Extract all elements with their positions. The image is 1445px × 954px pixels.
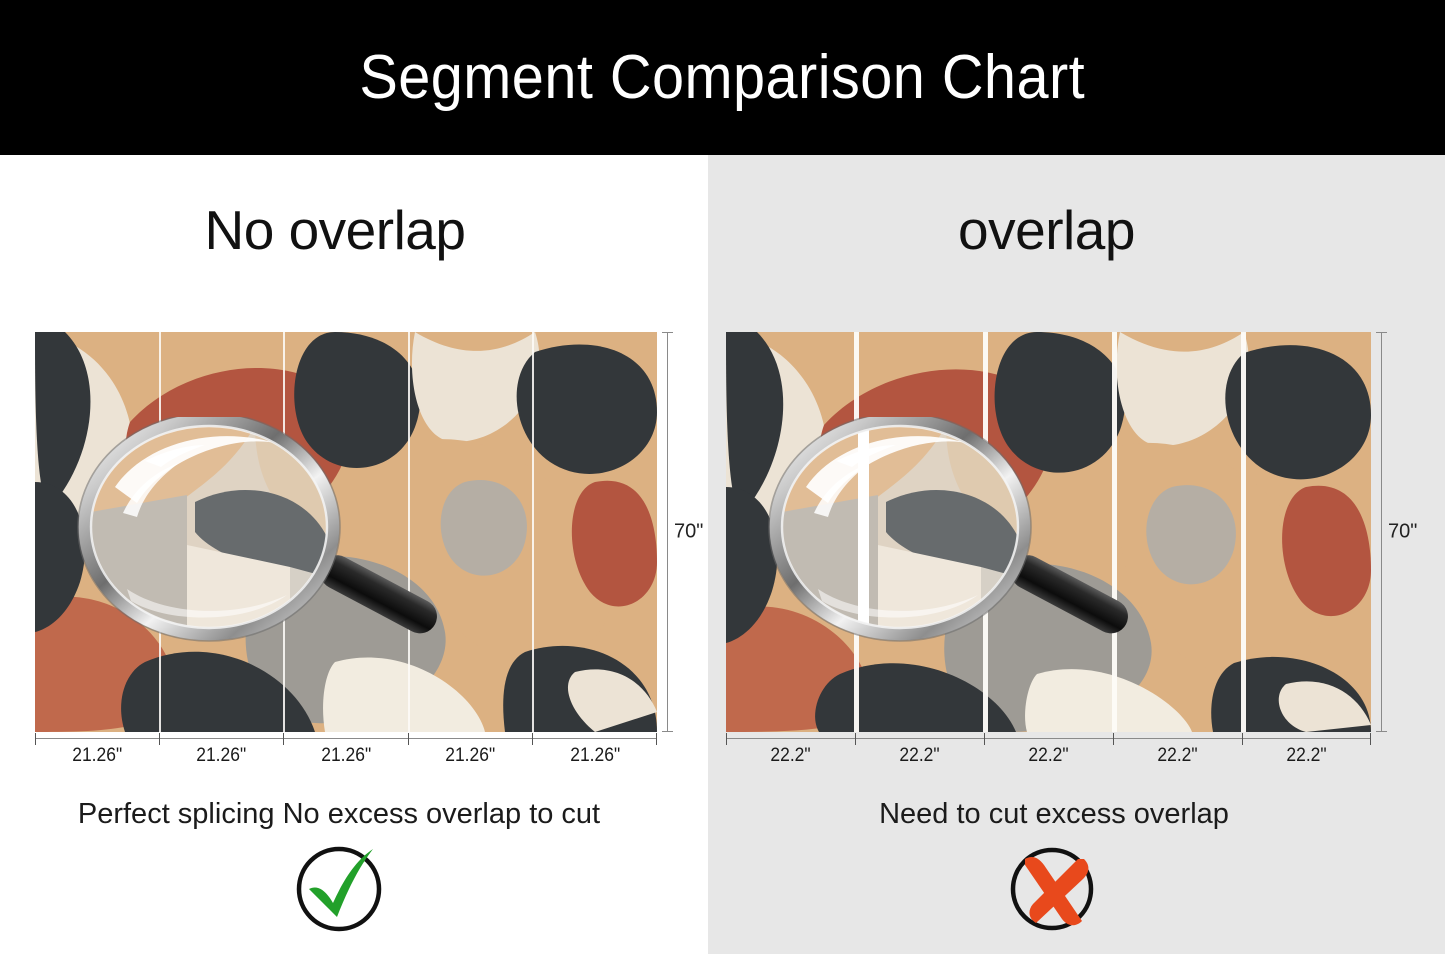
mural-overlap <box>726 332 1371 732</box>
page-title: Segment Comparison Chart <box>360 47 1086 109</box>
dimension-tick <box>855 733 856 745</box>
segment-label: 21.26" <box>413 745 527 767</box>
segment-labels-right: 22.2" 22.2" 22.2" 22.2" 22.2" <box>726 745 1371 767</box>
check-circle-icon <box>293 841 385 933</box>
segment-label: 22.2" <box>1118 745 1237 767</box>
dimension-tick <box>532 733 533 745</box>
segment-label: 22.2" <box>1247 745 1366 767</box>
dimension-tick <box>35 733 36 745</box>
dimension-line <box>726 738 1371 739</box>
height-label-right: 70" <box>1388 521 1417 544</box>
panel-no-overlap: No overlap <box>0 155 708 954</box>
dimension-tick <box>408 733 409 745</box>
dimension-cap-top <box>1376 332 1387 333</box>
dimension-tick <box>984 733 985 745</box>
segment-dimension-right: 22.2" 22.2" 22.2" 22.2" 22.2" <box>726 738 1371 784</box>
segment-label: 22.2" <box>731 745 850 767</box>
dimension-cap-bottom <box>1376 731 1387 732</box>
height-dimension-right: 70" <box>1373 332 1413 732</box>
mural-no-overlap <box>35 332 657 732</box>
segment-dimension-left: 21.26" 21.26" 21.26" 21.26" 21.26" <box>35 738 657 784</box>
segment-label: 22.2" <box>860 745 979 767</box>
segment-label: 22.2" <box>989 745 1108 767</box>
dimension-line <box>1381 332 1382 732</box>
status-icon-wrap-left <box>0 841 708 933</box>
segment-label: 21.26" <box>289 745 403 767</box>
dimension-tick <box>656 733 657 745</box>
segment-label: 21.26" <box>40 745 154 767</box>
header-bar: Segment Comparison Chart <box>0 0 1445 155</box>
dimension-tick <box>1242 733 1243 745</box>
dimension-line <box>667 332 668 732</box>
height-label-left: 70" <box>674 521 703 544</box>
panel-heading-no-overlap: No overlap <box>0 203 708 258</box>
panel-heading-overlap: overlap <box>708 203 1445 258</box>
dimension-tick <box>1113 733 1114 745</box>
dimension-tick <box>1370 733 1371 745</box>
segment-labels-left: 21.26" 21.26" 21.26" 21.26" 21.26" <box>35 745 657 767</box>
magnifier-icon <box>75 417 465 657</box>
caption-overlap: Need to cut excess overlap <box>708 800 1445 829</box>
dimension-tick <box>283 733 284 745</box>
height-dimension-left: 70" <box>659 332 699 732</box>
cross-circle-icon <box>1008 841 1100 933</box>
comparison-panels: No overlap <box>0 155 1445 954</box>
dimension-cap-top <box>662 332 673 333</box>
dimension-tick <box>159 733 160 745</box>
dimension-line <box>35 738 657 739</box>
panel-overlap: overlap <box>708 155 1445 954</box>
magnifier-icon <box>766 417 1156 657</box>
status-icon-wrap-right <box>708 841 1445 933</box>
page-root: Segment Comparison Chart No overlap <box>0 0 1445 954</box>
dimension-cap-bottom <box>662 731 673 732</box>
caption-no-overlap: Perfect splicing No excess overlap to cu… <box>0 800 708 829</box>
segment-label: 21.26" <box>164 745 278 767</box>
segment-label: 21.26" <box>538 745 652 767</box>
dimension-tick <box>726 733 727 745</box>
